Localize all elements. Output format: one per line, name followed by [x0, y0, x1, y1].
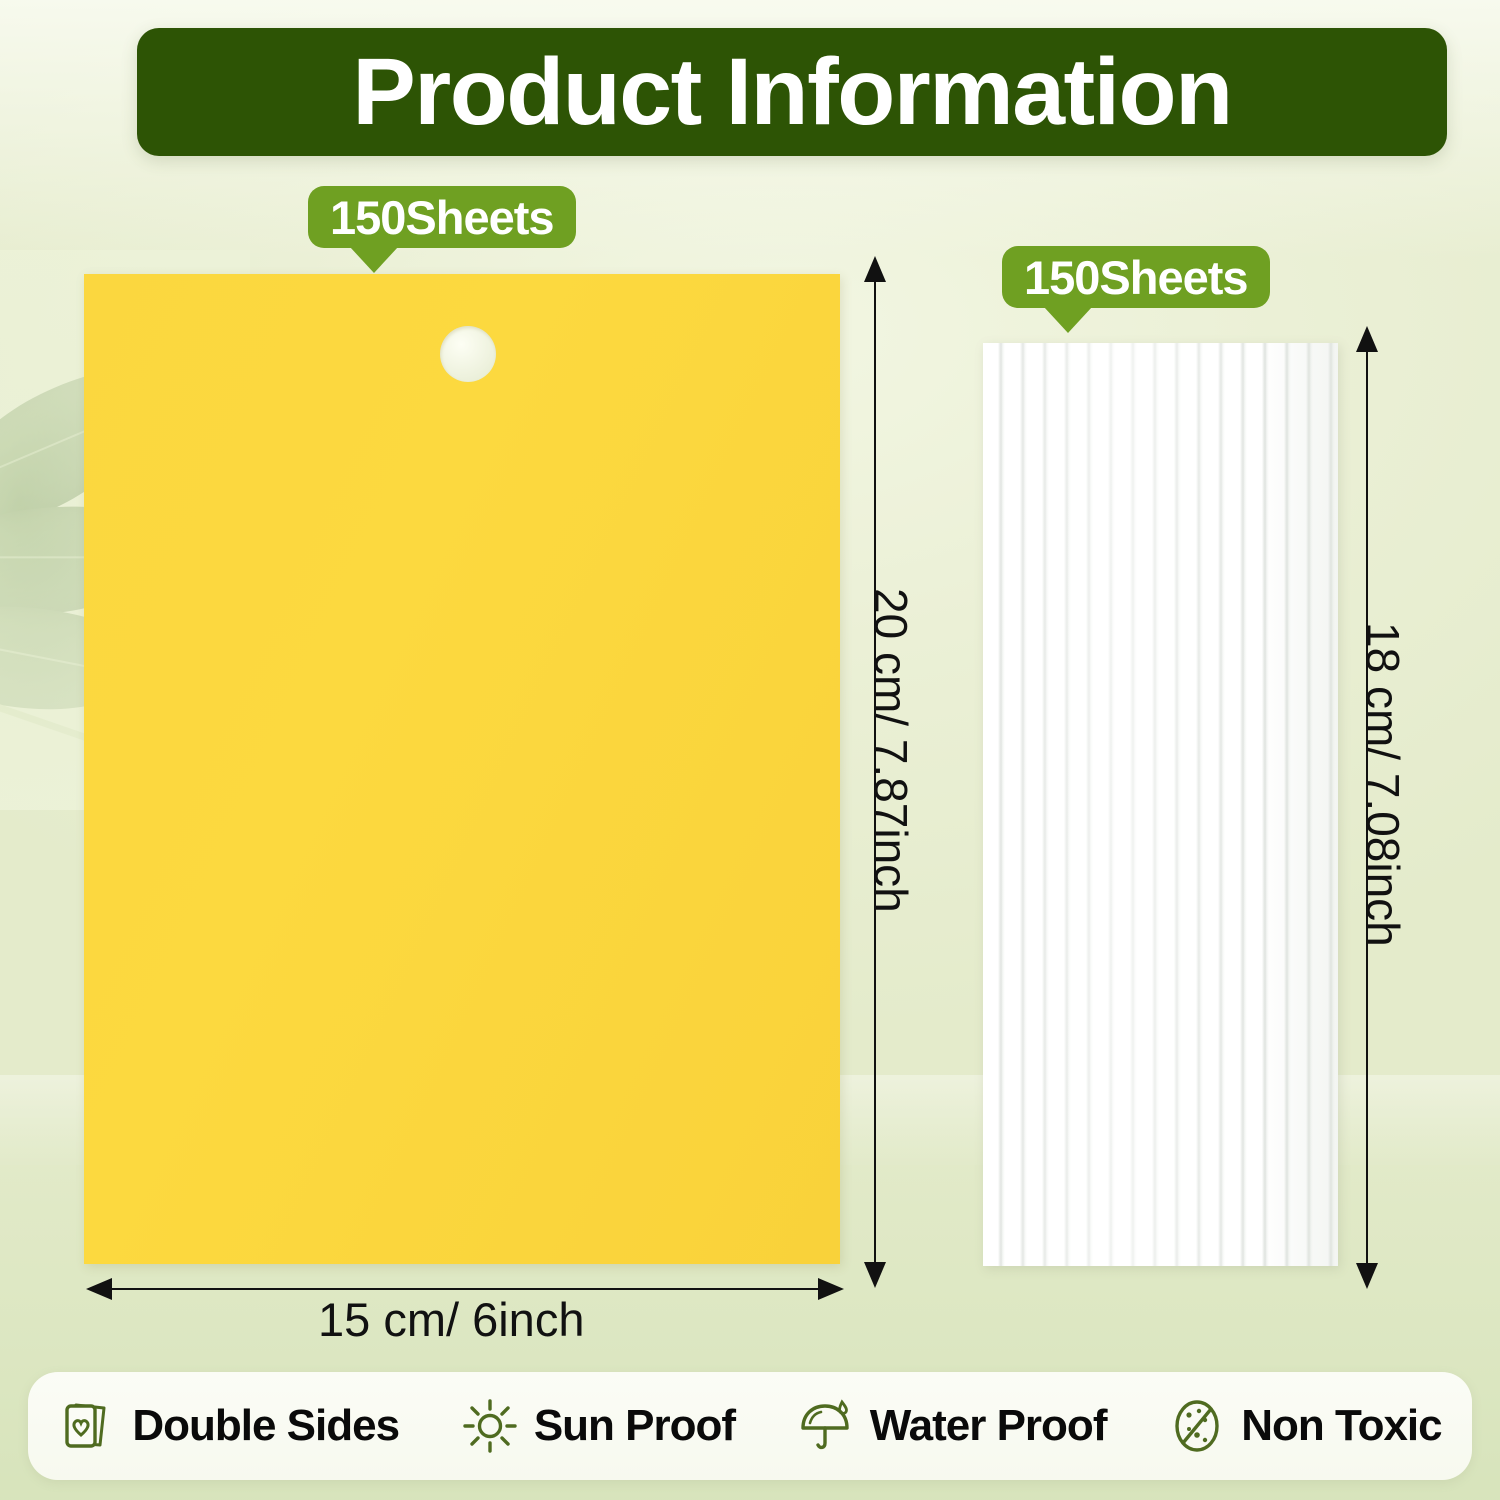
feature-bar: Double Sides Sun Proof — [28, 1372, 1472, 1480]
feature-label-water-proof: Water Proof — [870, 1401, 1107, 1451]
umbrella-raindrop-icon — [796, 1396, 856, 1456]
feature-label-double-sides: Double Sides — [132, 1401, 399, 1451]
feature-item-double-sides: Double Sides — [58, 1396, 399, 1456]
product-information-infographic: Product Information 150Sheets 150Sheets … — [0, 0, 1500, 1500]
feature-item-non-toxic: Non Toxic — [1167, 1396, 1441, 1456]
card-width-dimension-line — [110, 1288, 820, 1290]
sheet-count-badge-right-label: 150Sheets — [1024, 254, 1248, 301]
card-height-label: 20 cm/ 7.87inch — [864, 588, 918, 913]
card-width-label: 15 cm/ 6inch — [318, 1292, 584, 1347]
white-sheet-stack — [983, 343, 1338, 1266]
sheet-stack-sheen — [983, 343, 1338, 1266]
sheet-count-badge-left-label: 150Sheets — [330, 194, 554, 241]
double-card-heart-icon — [58, 1396, 118, 1456]
yellow-sticky-trap-card — [84, 274, 840, 1264]
feature-item-water-proof: Water Proof — [796, 1396, 1107, 1456]
sheet-count-badge-left: 150Sheets — [308, 186, 576, 248]
page-title-banner: Product Information — [137, 28, 1447, 156]
feature-item-sun-proof: Sun Proof — [460, 1396, 735, 1456]
no-toxic-crossed-circle-icon — [1167, 1396, 1227, 1456]
feature-label-non-toxic: Non Toxic — [1241, 1401, 1441, 1451]
sheet-count-badge-right: 150Sheets — [1002, 246, 1270, 308]
sun-icon — [460, 1396, 520, 1456]
arrow-down-icon — [864, 1262, 886, 1288]
arrow-left-icon — [86, 1278, 112, 1300]
stack-height-label: 18 cm/ 7.08inch — [1356, 622, 1410, 947]
arrow-right-icon — [818, 1278, 844, 1300]
arrow-down-icon — [1356, 1263, 1378, 1289]
page-title: Product Information — [352, 45, 1231, 140]
feature-label-sun-proof: Sun Proof — [534, 1401, 735, 1451]
arrow-up-icon — [1356, 326, 1378, 352]
arrow-up-icon — [864, 256, 886, 282]
hanging-hole-icon — [440, 326, 496, 382]
